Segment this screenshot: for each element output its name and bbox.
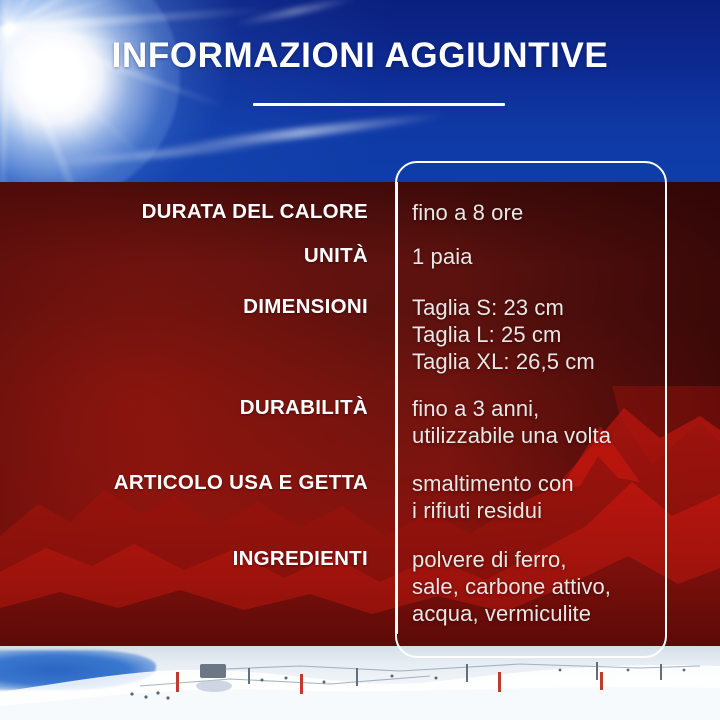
infographic-card: INFORMAZIONI AGGIUNTIVE — [0, 0, 720, 720]
spec-value: 1 paia — [390, 243, 660, 270]
spec-value-line: acqua, vermiculite — [412, 600, 660, 627]
spec-table: DURATA DEL CALORE fino a 8 ore UNITÀ 1 p… — [0, 182, 720, 646]
spec-label: UNITÀ — [60, 243, 390, 269]
spec-value: polvere di ferro, sale, carbone attivo, … — [390, 546, 660, 627]
spec-value-line: Taglia XL: 26,5 cm — [412, 348, 660, 375]
table-row: DIMENSIONI Taglia S: 23 cm Taglia L: 25 … — [60, 294, 660, 375]
snow-scene — [0, 646, 720, 720]
spec-label: DURATA DEL CALORE — [60, 199, 390, 225]
spec-label: INGREDIENTI — [60, 546, 390, 572]
spec-value-line: fino a 8 ore — [412, 199, 660, 226]
spec-value: smaltimento con i rifiuti residui — [390, 470, 660, 524]
spec-value-line: Taglia S: 23 cm — [412, 294, 660, 321]
sky-header — [0, 0, 720, 182]
spec-value-line: i rifiuti residui — [412, 497, 660, 524]
spec-value-line: sale, carbone attivo, — [412, 573, 660, 600]
table-row: DURABILITÀ fino a 3 anni, utilizzabile u… — [60, 395, 660, 449]
spec-label: DIMENSIONI — [60, 294, 390, 320]
spec-value-line: smaltimento con — [412, 470, 660, 497]
spec-value-line: utilizzabile una volta — [412, 422, 660, 449]
spec-value-line: polvere di ferro, — [412, 546, 660, 573]
table-row: INGREDIENTI polvere di ferro, sale, carb… — [60, 546, 660, 627]
spec-value: fino a 3 anni, utilizzabile una volta — [390, 395, 660, 449]
spec-value: fino a 8 ore — [390, 199, 660, 226]
table-row: DURATA DEL CALORE fino a 8 ore — [60, 199, 660, 226]
table-row: ARTICOLO USA E GETTA smaltimento con i r… — [60, 470, 660, 524]
page-title: INFORMAZIONI AGGIUNTIVE — [0, 34, 720, 78]
spec-value-line: Taglia L: 25 cm — [412, 321, 660, 348]
spec-label: ARTICOLO USA E GETTA — [60, 470, 390, 496]
spec-label: DURABILITÀ — [60, 395, 390, 421]
table-row: UNITÀ 1 paia — [60, 243, 660, 270]
spec-value-line: 1 paia — [412, 243, 660, 270]
spec-value-line: fino a 3 anni, — [412, 395, 660, 422]
title-divider — [253, 103, 505, 106]
ski-slope-footer — [0, 646, 720, 720]
spec-value: Taglia S: 23 cm Taglia L: 25 cm Taglia X… — [390, 294, 660, 375]
